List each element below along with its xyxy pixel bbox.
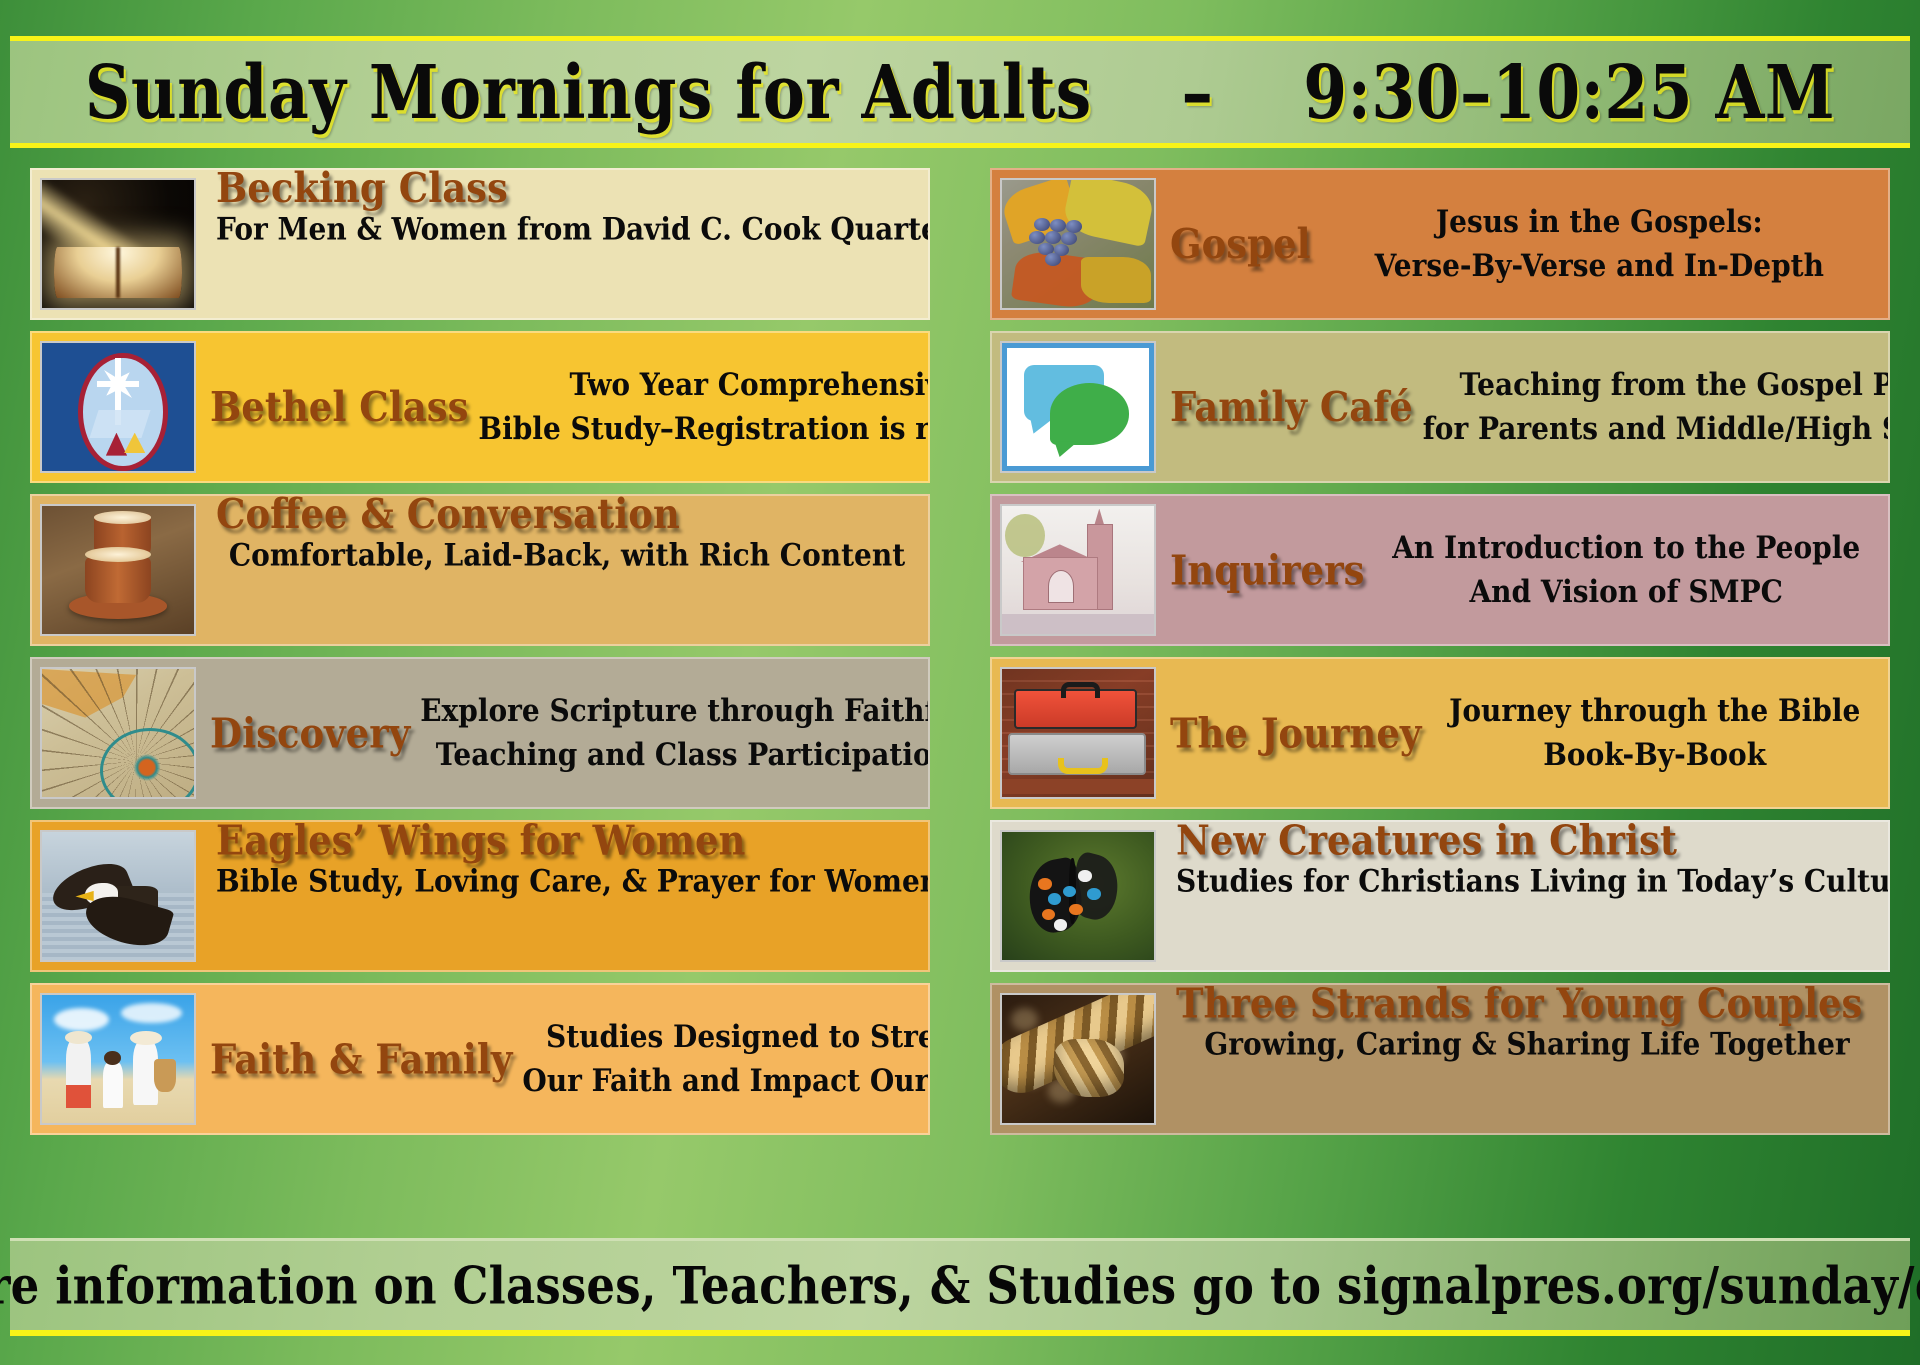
class-name: Bethel Class [210,387,468,428]
class-card-body: Coffee & ConversationComfortable, Laid-B… [196,496,928,644]
class-description-line: Explore Scripture through Faithful [420,689,930,733]
church-sketch-icon [1000,504,1156,636]
grapevine-icon [1000,178,1156,310]
class-name: Faith & Family [210,1039,512,1080]
class-column-right: GospelJesus in the Gospels:Verse-By-Vers… [960,158,1920,1226]
class-description-line: Verse-By-Verse and In-Depth [1321,244,1878,288]
bald-eagle-icon [40,830,196,962]
class-description-line: For Men & Women from David C. Cook Quart… [216,208,930,252]
sunday-classes-poster: Sunday Mornings for Adults – 9:30–10:25 … [0,0,1920,1365]
class-description-line: Studies Designed to Strengthen [522,1015,930,1059]
class-description-line: Bible Study, Loving Care, & Prayer for W… [216,860,930,904]
class-description-line: Two Year Comprehensive [478,363,930,407]
page-title: Sunday Mornings for Adults – 9:30–10:25 … [85,48,1835,135]
class-card-body: The JourneyJourney through the BibleBook… [1156,659,1888,807]
class-description: An Introduction to the PeopleAnd Vision … [1368,526,1878,613]
class-description: Growing, Caring & Sharing Life Together [1170,1023,1878,1135]
class-card[interactable]: Eagles’ Wings for WomenBible Study, Lovi… [30,820,930,972]
poster-footer: For more information on Classes, Teacher… [10,1238,1910,1336]
class-description-line: Teaching from the Gospel Project [1423,363,1890,407]
class-card[interactable]: GospelJesus in the Gospels:Verse-By-Vers… [990,168,1890,320]
class-description-line: Journey through the Bible [1431,689,1878,733]
class-card[interactable]: Coffee & ConversationComfortable, Laid-B… [30,494,930,646]
class-name: Family Café [1170,387,1413,428]
class-description-line: Teaching and Class Participation [420,733,930,777]
presbyterian-cross-icon [40,341,196,473]
class-card[interactable]: Bethel ClassTwo Year ComprehensiveBible … [30,331,930,483]
class-name: The Journey [1170,713,1421,754]
class-card[interactable]: New Creatures in ChristStudies for Chris… [990,820,1890,972]
class-description: Bible Study, Loving Care, & Prayer for W… [210,860,930,972]
class-card[interactable]: Faith & FamilyStudies Designed to Streng… [30,983,930,1135]
class-name: Three Strands for Young Couples [1176,983,1862,1024]
class-grid: Becking ClassFor Men & Women from David … [0,158,1920,1226]
class-description: Two Year ComprehensiveBible Study–Regist… [472,363,930,450]
class-description: Studies for Christians Living in Today’s… [1170,860,1890,972]
class-description-line: Growing, Caring & Sharing Life Together [1176,1023,1878,1067]
class-description-line: Jesus in the Gospels: [1321,200,1878,244]
footer-info-text: For more information on Classes, Teacher… [0,1255,1920,1316]
class-card-body: InquirersAn Introduction to the PeopleAn… [1156,496,1888,644]
class-description-line: Bible Study–Registration is required [478,407,930,451]
class-card-body: Eagles’ Wings for WomenBible Study, Lovi… [196,822,930,970]
class-column-left: Becking ClassFor Men & Women from David … [0,158,960,1226]
butterfly-icon [1000,830,1156,962]
class-description: Studies Designed to StrengthenOur Faith … [516,1015,930,1102]
class-description: Explore Scripture through FaithfulTeachi… [414,689,930,776]
class-description-line: Studies for Christians Living in Today’s… [1176,860,1890,904]
coffee-cups-icon [40,504,196,636]
class-name: Gospel [1170,224,1311,265]
class-name: Inquirers [1170,550,1364,591]
class-description: Jesus in the Gospels:Verse-By-Verse and … [1315,200,1878,287]
class-description: Teaching from the Gospel Projectfor Pare… [1417,363,1890,450]
class-card[interactable]: DiscoveryExplore Scripture through Faith… [30,657,930,809]
class-description: Journey through the BibleBook-By-Book [1425,689,1878,776]
speech-bubbles-icon [1000,341,1156,473]
class-card-body: Faith & FamilyStudies Designed to Streng… [196,985,930,1133]
class-card-body: GospelJesus in the Gospels:Verse-By-Vers… [1156,170,1888,318]
open-bible-icon [40,178,196,310]
class-name: Coffee & Conversation [216,494,680,535]
class-description-line: Book-By-Book [1431,733,1878,777]
class-card-body: Becking ClassFor Men & Women from David … [196,170,930,318]
class-name: Becking Class [216,168,508,209]
class-description: For Men & Women from David C. Cook Quart… [210,208,930,320]
class-name: Discovery [210,713,410,754]
class-name: Eagles’ Wings for Women [216,820,745,861]
class-card-body: New Creatures in ChristStudies for Chris… [1156,822,1890,970]
class-card-body: Bethel ClassTwo Year ComprehensiveBible … [196,333,930,481]
old-map-compass-icon [40,667,196,799]
class-description-line: An Introduction to the People [1374,526,1878,570]
class-name: New Creatures in Christ [1176,820,1677,861]
class-description-line: for Parents and Middle/High Students [1423,407,1890,451]
class-card-body: Family CaféTeaching from the Gospel Proj… [1156,333,1890,481]
class-description: Comfortable, Laid-Back, with Rich Conten… [210,534,918,646]
suitcases-icon [1000,667,1156,799]
class-card-body: DiscoveryExplore Scripture through Faith… [196,659,930,807]
class-card[interactable]: Three Strands for Young CouplesGrowing, … [990,983,1890,1135]
class-description-line: And Vision of SMPC [1374,570,1878,614]
rope-knot-icon [1000,993,1156,1125]
class-card[interactable]: InquirersAn Introduction to the PeopleAn… [990,494,1890,646]
class-card[interactable]: Family CaféTeaching from the Gospel Proj… [990,331,1890,483]
class-card[interactable]: The JourneyJourney through the BibleBook… [990,657,1890,809]
class-description-line: Comfortable, Laid-Back, with Rich Conten… [216,534,918,578]
class-card[interactable]: Becking ClassFor Men & Women from David … [30,168,930,320]
class-card-body: Three Strands for Young CouplesGrowing, … [1156,985,1888,1133]
poster-header: Sunday Mornings for Adults – 9:30–10:25 … [10,36,1910,148]
family-on-beach-icon [40,993,196,1125]
class-description-line: Our Faith and Impact Our Families [522,1059,930,1103]
